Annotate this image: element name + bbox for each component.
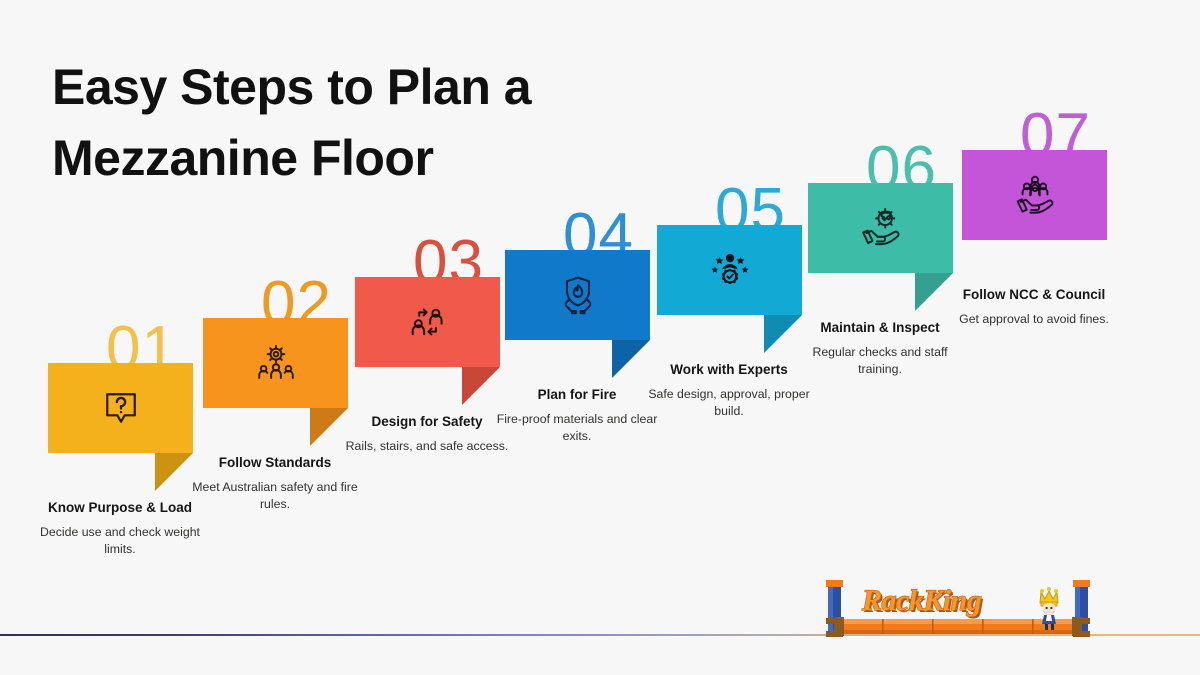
step-fold-01 bbox=[155, 453, 193, 491]
king-mascot bbox=[1040, 587, 1058, 630]
step-caption-03: Design for Safety Rails, stairs, and saf… bbox=[342, 412, 512, 455]
question-speech-bubble-icon bbox=[99, 386, 143, 430]
step-fold-06 bbox=[915, 273, 953, 311]
step-block-06[interactable] bbox=[808, 183, 953, 273]
step-block-03[interactable] bbox=[355, 277, 500, 367]
step-title-07: Follow NCC & Council bbox=[949, 285, 1119, 305]
step-caption-06: Maintain & Inspect Regular checks and st… bbox=[795, 318, 965, 378]
step-desc-03: Rails, stairs, and safe access. bbox=[342, 438, 512, 455]
step-block-02[interactable] bbox=[203, 318, 348, 408]
hands-fire-shield-icon bbox=[555, 273, 601, 317]
step-title-05: Work with Experts bbox=[644, 360, 814, 380]
step-desc-06: Regular checks and staff training. bbox=[795, 344, 965, 379]
infographic-canvas: Easy Steps to Plan a Mezzanine Floor 01 … bbox=[0, 0, 1200, 675]
people-exchange-icon bbox=[405, 301, 451, 343]
rackking-logo[interactable]: RackKing RackKing bbox=[820, 578, 1100, 640]
expert-badge-stars-icon bbox=[707, 248, 753, 292]
step-title-04: Plan for Fire bbox=[492, 385, 662, 405]
brand-wordmark: RackKing RackKing bbox=[861, 584, 984, 619]
step-block-07[interactable] bbox=[962, 150, 1107, 240]
step-title-02: Follow Standards bbox=[190, 453, 360, 473]
step-desc-04: Fire-proof materials and clear exits. bbox=[492, 411, 662, 446]
step-caption-04: Plan for Fire Fire-proof materials and c… bbox=[492, 385, 662, 445]
hand-gear-check-icon bbox=[857, 207, 905, 249]
gear-people-icon bbox=[253, 341, 299, 385]
step-desc-05: Safe design, approval, proper build. bbox=[644, 386, 814, 421]
svg-text:RackKing: RackKing bbox=[861, 584, 982, 617]
page-title-line2: Mezzanine Floor bbox=[52, 123, 692, 194]
step-desc-02: Meet Australian safety and fire rules. bbox=[190, 479, 360, 514]
step-desc-01: Decide use and check weight limits. bbox=[35, 524, 205, 559]
step-desc-07: Get approval to avoid fines. bbox=[949, 311, 1119, 328]
step-block-05[interactable] bbox=[657, 225, 802, 315]
page-title-line1: Easy Steps to Plan a bbox=[52, 59, 531, 115]
step-title-01: Know Purpose & Load bbox=[35, 498, 205, 518]
step-block-01[interactable] bbox=[48, 363, 193, 453]
step-title-06: Maintain & Inspect bbox=[795, 318, 965, 338]
step-caption-01: Know Purpose & Load Decide use and check… bbox=[35, 498, 205, 558]
step-caption-02: Follow Standards Meet Australian safety … bbox=[190, 453, 360, 513]
step-caption-05: Work with Experts Safe design, approval,… bbox=[644, 360, 814, 420]
page-title: Easy Steps to Plan a Mezzanine Floor bbox=[52, 52, 692, 194]
step-block-04[interactable] bbox=[505, 250, 650, 340]
step-caption-07: Follow NCC & Council Get approval to avo… bbox=[949, 285, 1119, 328]
hand-people-icon bbox=[1011, 174, 1059, 216]
step-title-03: Design for Safety bbox=[342, 412, 512, 432]
